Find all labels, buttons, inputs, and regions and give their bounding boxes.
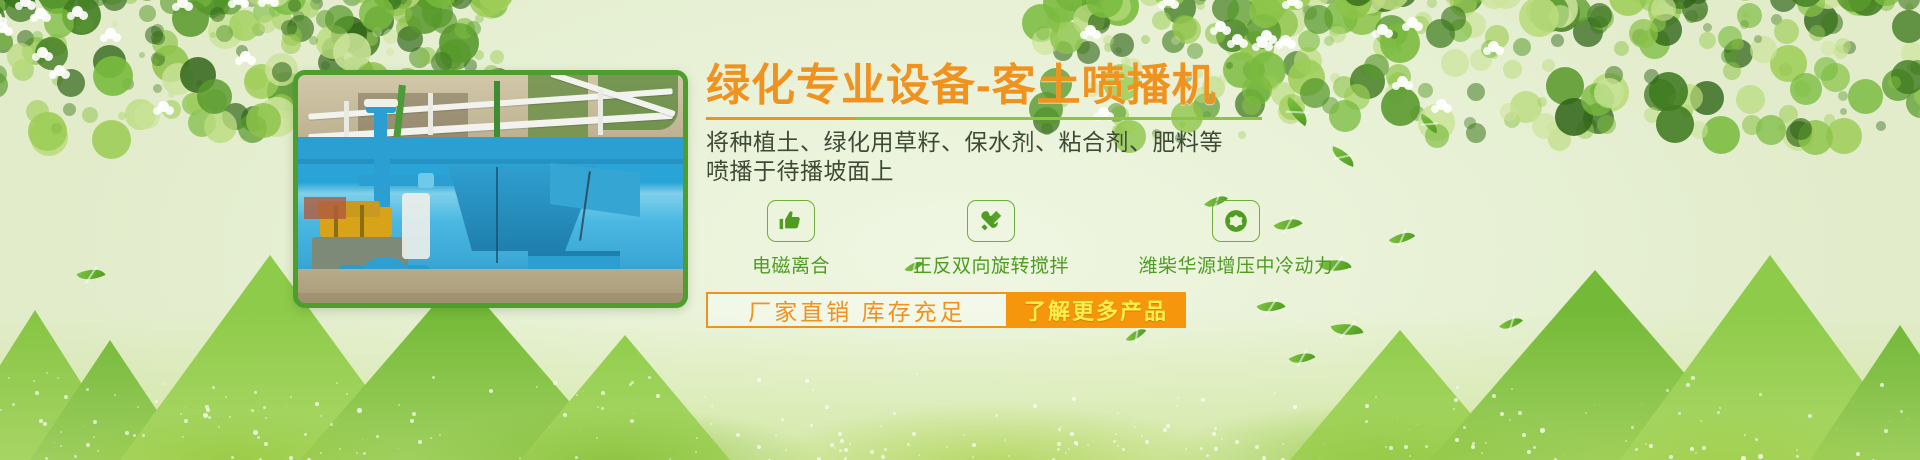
learn-more-button[interactable]: 了解更多产品 <box>1006 292 1186 328</box>
banner-content: 绿化专业设备-客土喷播机 将种植土、绿化用草籽、保水剂、粘合剂、肥料等 喷播于待… <box>706 62 1886 328</box>
subtitle-line-1: 将种植土、绿化用草籽、保水剂、粘合剂、肥料等 <box>706 128 1886 157</box>
grass-texture-band <box>0 310 1920 460</box>
feature-list: 电磁离合 正反双向旋转搅拌 潍柴华源增压中冷 <box>706 200 1886 278</box>
feature-item-weichai-engine: 潍柴华源增压中冷动力 <box>1106 200 1366 278</box>
title-underline <box>706 117 1262 120</box>
feature-item-electromagnetic-clutch: 电磁离合 <box>706 200 876 278</box>
subtitle: 将种植土、绿化用草籽、保水剂、粘合剂、肥料等 喷播于待播坡面上 <box>706 128 1886 187</box>
feature-label: 电磁离合 <box>752 251 830 278</box>
subtitle-line-2: 喷播于待播坡面上 <box>706 157 1886 186</box>
engine-ring-icon <box>1212 200 1260 242</box>
product-photo <box>298 75 683 303</box>
cta-row: 厂家直销 库存充足 了解更多产品 <box>706 292 1186 328</box>
wrench-screwdriver-icon <box>967 200 1015 242</box>
feature-label: 潍柴华源增压中冷动力 <box>1138 251 1333 278</box>
page-title: 绿化专业设备-客土喷播机 <box>706 62 1886 110</box>
thumbs-up-icon <box>767 200 815 242</box>
feature-label: 正反双向旋转搅拌 <box>913 251 1069 278</box>
feature-item-bidirectional-mixing: 正反双向旋转搅拌 <box>876 200 1106 278</box>
cta-slogan: 厂家直销 库存充足 <box>706 292 1006 328</box>
promo-banner: 绿化专业设备-客土喷播机 将种植土、绿化用草籽、保水剂、粘合剂、肥料等 喷播于待… <box>0 0 1920 460</box>
product-photo-card <box>293 70 688 308</box>
